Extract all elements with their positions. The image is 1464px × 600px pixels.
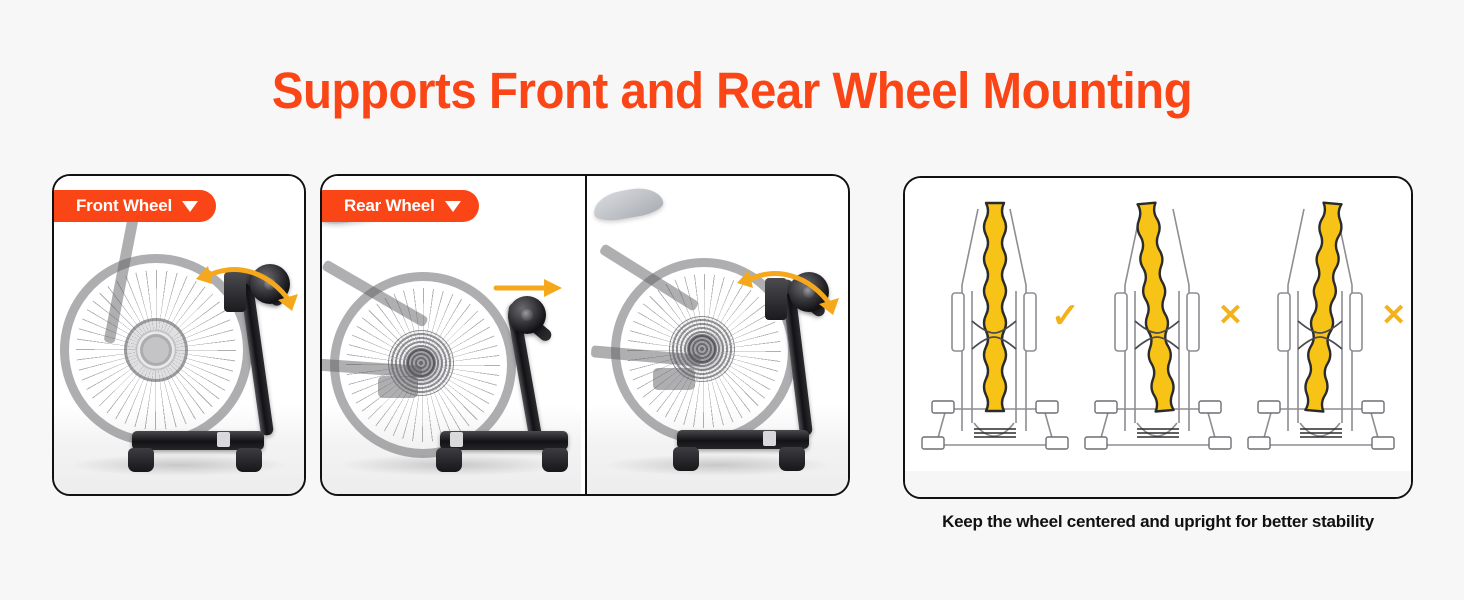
badge-rear-wheel-label: Rear Wheel <box>344 196 435 216</box>
stand-diagram-icon <box>1242 176 1400 463</box>
stand-foot-left <box>673 447 699 471</box>
page-title: Supports Front and Rear Wheel Mounting <box>51 62 1413 120</box>
stand-foot-left <box>128 448 154 472</box>
rear-wheel-scene <box>322 176 581 494</box>
derailleur <box>378 376 418 398</box>
badge-front-wheel-label: Front Wheel <box>76 196 172 216</box>
badge-rear-wheel: Rear Wheel <box>322 190 479 222</box>
wheel-shape <box>1304 203 1344 412</box>
cross-icon: ✕ <box>1381 299 1406 333</box>
alignment-examples-row: ✓ <box>905 178 1411 471</box>
panel-front-wheel: Front Wheel <box>52 174 306 496</box>
triangle-down-icon <box>182 201 198 212</box>
front-wheel-scene <box>54 176 304 494</box>
rotation-arrow-icon <box>194 258 304 320</box>
disc-brake-rotor <box>124 318 188 382</box>
stand-roller-wheel <box>508 296 546 334</box>
alignment-caption: Keep the wheel centered and upright for … <box>903 512 1413 532</box>
cross-icon: ✕ <box>1218 299 1243 333</box>
panel-rear-wheel-group: Rear Wheel <box>320 174 850 496</box>
panel-wheel-alignment: ✓ <box>903 176 1413 499</box>
alignment-example-tilt-left: ✕ <box>1242 176 1400 463</box>
wheel-shape <box>984 203 1006 411</box>
check-icon: ✓ <box>1051 299 1080 333</box>
alignment-example-tilt-right: ✕ <box>1079 176 1237 463</box>
stand-diagram-icon <box>1079 176 1237 463</box>
stand-foot-right <box>236 448 262 472</box>
rotation-arrow-icon <box>735 262 845 324</box>
stand-brand-label <box>763 431 776 446</box>
stand-diagram-icon <box>916 176 1074 463</box>
badge-front-wheel: Front Wheel <box>54 190 216 222</box>
alignment-diagram-area: ✓ <box>905 178 1411 497</box>
stand-foot-right <box>779 447 805 471</box>
rear-wheel-locked-scene <box>587 176 848 494</box>
derailleur <box>653 368 695 390</box>
stand-foot-left <box>436 448 462 472</box>
stand-brand-label <box>450 432 463 447</box>
saddle-icon <box>591 184 665 224</box>
triangle-down-icon <box>445 201 461 212</box>
push-arrow-icon <box>494 276 564 300</box>
stand-brand-label <box>217 432 230 447</box>
wheel-shape <box>1136 203 1176 412</box>
alignment-bottom-strip <box>905 471 1411 497</box>
stand-foot-right <box>542 448 568 472</box>
alignment-example-correct: ✓ <box>916 176 1074 463</box>
